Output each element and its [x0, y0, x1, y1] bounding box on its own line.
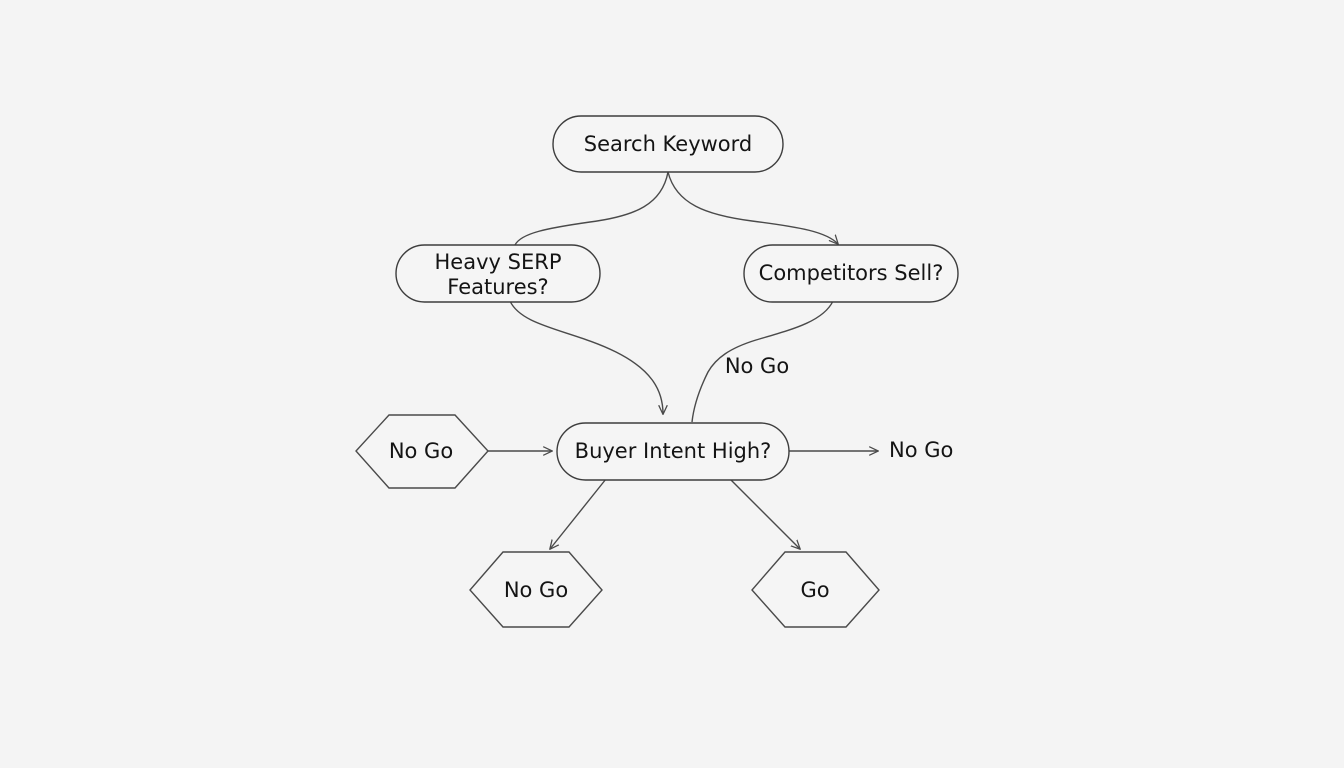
node-no-go-left[interactable]: No Go: [356, 415, 488, 488]
node-go-bottom-label: Go: [800, 578, 829, 602]
edge-heavy-serp-to-buyer-intent: [510, 301, 663, 414]
node-no-go-bottom[interactable]: No Go: [470, 552, 602, 627]
node-buyer-intent-high-label: Buyer Intent High?: [575, 439, 772, 463]
flowchart-canvas: Search Keyword Heavy SERP Features? Comp…: [0, 0, 1344, 768]
node-search-keyword[interactable]: Search Keyword: [553, 116, 783, 172]
node-no-go-bottom-label: No Go: [504, 578, 568, 602]
terminal-no-go-right: No Go: [889, 438, 953, 462]
node-no-go-left-label: No Go: [389, 439, 453, 463]
node-competitors-sell[interactable]: Competitors Sell?: [744, 245, 958, 302]
edge-label-competitors-no-go: No Go: [725, 354, 789, 378]
node-buyer-intent-high[interactable]: Buyer Intent High?: [557, 423, 789, 480]
edge-search-keyword-to-heavy-serp: [515, 172, 668, 245]
node-go-bottom[interactable]: Go: [752, 552, 879, 627]
node-heavy-serp-features-label-line2: Features?: [447, 275, 548, 299]
edge-buyer-intent-to-go-bottom: [730, 479, 800, 549]
node-heavy-serp-features[interactable]: Heavy SERP Features?: [396, 245, 600, 302]
node-heavy-serp-features-label-line1: Heavy SERP: [435, 250, 562, 274]
edge-search-keyword-to-competitors-sell: [668, 172, 838, 244]
edge-buyer-intent-to-no-go-bottom: [550, 479, 606, 549]
flowchart-svg: Search Keyword Heavy SERP Features? Comp…: [0, 0, 1344, 768]
node-search-keyword-label: Search Keyword: [584, 132, 753, 156]
node-competitors-sell-label: Competitors Sell?: [759, 261, 944, 285]
